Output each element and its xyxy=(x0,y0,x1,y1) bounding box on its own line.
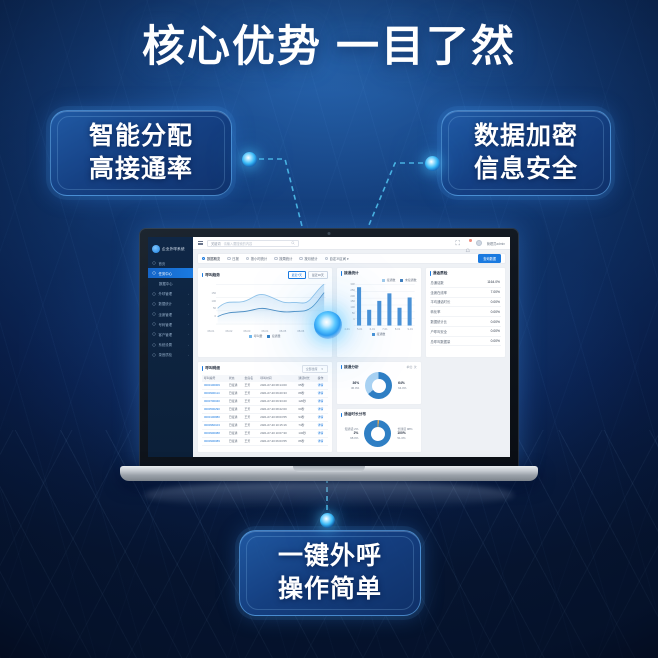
table-row[interactable]: 0000100009已接通王芳2021-07-20 08:14:0065秒详情 xyxy=(202,382,328,390)
card-quality: 通话质检 总通话数1164.0%坐席在线率7.00%平均通话时长0.00%转化率… xyxy=(425,267,507,358)
audio-icon xyxy=(152,353,156,357)
sidebar-item-8[interactable]: 系统设置› xyxy=(148,340,193,350)
table-cell: 已接通 xyxy=(227,382,243,390)
table-cell: 王芳 xyxy=(243,397,259,405)
duration-pct: 98.0% xyxy=(345,436,359,440)
answer-donut-chart xyxy=(365,372,392,399)
table-cell: 王芳 xyxy=(243,437,259,445)
search-label: 关键词 xyxy=(211,241,221,246)
search-input[interactable]: 关键词 请输入要搜索的内容 xyxy=(207,240,299,247)
laptop-mockup: 企业外呼系统 首页任务中心数据中心外呼管理›数据统计›坐席管理›号码管理›客户管… xyxy=(120,228,538,490)
legend-item: 接通量 xyxy=(267,334,280,338)
x-tick: 08-03 xyxy=(243,330,250,333)
table-cell: 王芳 xyxy=(243,421,259,429)
chart-icon xyxy=(152,302,156,306)
table-cell: 65秒 xyxy=(296,382,315,390)
chevron-right-icon: › xyxy=(188,292,189,296)
table-column-header: 呼叫编号 xyxy=(202,375,227,382)
table-cell: 0000500290 xyxy=(202,405,227,413)
laptop-reflection xyxy=(144,482,514,508)
chevron-right-icon: › xyxy=(188,312,189,316)
x-tick: 5-01 xyxy=(357,328,362,331)
sidebar-item-2[interactable]: 数据中心 xyxy=(148,278,193,288)
card-title: 接通统计 xyxy=(344,271,359,276)
bar-legend: 接通数未接通数 xyxy=(341,278,417,282)
sidebar-item-1[interactable]: 任务中心 xyxy=(148,268,193,278)
stat-row: 坐席在线率7.00% xyxy=(430,288,502,298)
chevron-right-icon: › xyxy=(188,322,189,326)
brand-name: 企业外呼系统 xyxy=(162,247,185,252)
table-cell: 0000100009 xyxy=(202,382,227,390)
bar-x-axis: 4-015-016-017-018-019-01 xyxy=(341,328,417,331)
card-connect: 接通统计 接通数未接通数 300250200150100500 4-015-0 xyxy=(336,267,422,358)
card-answer: 接通分析 单位: 次 36% 36.0% xyxy=(336,361,422,406)
table-cell: 已接通 xyxy=(227,389,243,397)
stat-row: 平均通话时长0.00% xyxy=(430,298,502,308)
table-cell: 132秒 xyxy=(296,429,315,437)
stat-label: 户呼叫安全 xyxy=(431,329,447,334)
bar-chart xyxy=(354,283,415,327)
sidebar-item-5[interactable]: 坐席管理› xyxy=(148,309,193,319)
table-cell: 2021-07-20 10:07:30 xyxy=(258,429,296,437)
x-tick: 6-01 xyxy=(370,328,375,331)
phone-icon xyxy=(152,271,156,275)
chevron-right-icon: › xyxy=(188,353,189,357)
stat-value: 0.00% xyxy=(491,339,500,343)
table-row[interactable]: 0000500290已接通王芳2021-07-20 08:22:0060秒详情 xyxy=(202,405,328,413)
sidebar-item-label: 客户管理 xyxy=(159,332,173,337)
table-row[interactable]: 0000100880已接通王芳2021-07-20 08:03:5594秒详情 xyxy=(202,413,328,421)
legend-item: 接通数 xyxy=(382,278,395,282)
x-tick: 9-01 xyxy=(407,328,412,331)
brand-logo-icon xyxy=(152,245,160,253)
search-icon xyxy=(291,241,295,245)
stat-row: 总呼叫数据量0.00% xyxy=(430,337,502,347)
bar xyxy=(367,310,371,326)
stat-value: 1164.0% xyxy=(487,280,500,284)
stat-list: 总通话数1164.0%坐席在线率7.00%平均通话时长0.00%转化率0.00%… xyxy=(430,278,502,346)
table-column-header: 呼叫时间 xyxy=(258,375,296,382)
table-cell: 88秒 xyxy=(296,389,315,397)
dashboard-grid: 呼叫趋势 最近7天 最近30天 150100500 xyxy=(193,264,510,457)
legend-label: 未接通数 xyxy=(405,278,417,282)
sidebar-item-label: 任务中心 xyxy=(159,271,173,276)
stat-value: 0.00% xyxy=(491,329,500,333)
filter-radio-label: 数据概览 xyxy=(207,256,220,261)
sidebar-item-label: 录音质检 xyxy=(159,352,173,357)
card-records: 呼叫明细 全部坐席 ▾ 呼叫编号状态坐席名呼叫时间通话时长操作 00001000… xyxy=(197,361,333,453)
legend-label: 接通量 xyxy=(272,334,281,338)
callout-line-2: 操作简单 xyxy=(278,573,382,606)
x-tick: 4-01 xyxy=(344,328,349,331)
stat-value: 0.00% xyxy=(491,310,500,314)
trend-chart xyxy=(216,281,326,329)
answer-donut-wrap: 36% 36.0% 64% 64.0% xyxy=(341,372,417,401)
y-tick: 100 xyxy=(205,300,216,303)
card-header: 接通分析 单位: 次 xyxy=(341,365,417,370)
fullscreen-icon[interactable] xyxy=(455,240,461,246)
filter-radio-4[interactable]: 按月统计 xyxy=(299,256,317,261)
stat-label: 总呼叫数据量 xyxy=(431,339,451,344)
table-cell: 详情 xyxy=(316,397,328,405)
table-cell: 详情 xyxy=(316,405,328,413)
sidebar-item-6[interactable]: 号码管理› xyxy=(148,319,193,329)
chevron-right-icon: › xyxy=(188,302,189,306)
x-tick: 08-02 xyxy=(226,330,233,333)
table-cell: 已接通 xyxy=(227,397,243,405)
table-row[interactable]: 0000900088已接通王芳2021-07-20 10:07:30132秒详情 xyxy=(202,429,328,437)
x-tick: 08-06 xyxy=(297,330,304,333)
card-title: 呼叫明细 xyxy=(205,366,220,371)
card-header: 通话质检 xyxy=(430,271,502,276)
poster-canvas: 核心优势 一目了然 企业外呼系统 首页任务中心数据中心外呼管理›数据统计›坐席管… xyxy=(0,0,658,658)
stat-row: 转化率0.00% xyxy=(430,307,502,317)
filter-radio-5[interactable]: 自定义区间 ▾ xyxy=(325,256,349,261)
table-column-header: 坐席名 xyxy=(243,375,259,382)
search-placeholder: 请输入要搜索的内容 xyxy=(224,241,253,246)
table-cell: 2021-07-20 06:03:55 xyxy=(258,437,296,445)
card-title: 接通分析 xyxy=(344,365,359,370)
callout-data-encryption[interactable]: 数据加密 信息安全 xyxy=(441,110,611,196)
duration-legend-right: 长通话 98%100%51.0% xyxy=(397,427,412,441)
y-tick: 150 xyxy=(205,292,216,295)
bar xyxy=(377,301,381,326)
table-header-row: 呼叫编号状态坐席名呼叫时间通话时长操作 xyxy=(202,375,328,382)
user-icon xyxy=(152,312,156,316)
card-meta: 单位: 次 xyxy=(407,365,417,369)
table-cell: 详情 xyxy=(316,421,328,429)
bar-legend-bottom: 接通数 xyxy=(341,332,417,336)
menu-toggle-icon[interactable] xyxy=(198,241,203,245)
duration-legend-left: 短通话 2%2%98.0% xyxy=(345,427,359,441)
people-icon xyxy=(152,332,156,336)
card-title: 通话时长分布 xyxy=(344,412,366,417)
table-cell: 已接通 xyxy=(227,429,243,437)
table-cell: 详情 xyxy=(316,389,328,397)
sidebar-item-label: 数据中心 xyxy=(159,281,173,286)
webcam-icon xyxy=(328,232,331,235)
y-tick: 50 xyxy=(205,307,216,310)
table-cell: 0000700040 xyxy=(202,397,227,405)
range-7d-button[interactable]: 最近7天 xyxy=(288,271,306,279)
user-name[interactable]: 管理员admin xyxy=(487,241,505,246)
duration-donut-wrap: 短通话 2%2%98.0% 长通话 98%100%51.0% xyxy=(341,419,417,448)
card-duration: 通话时长分布 短通话 2%2%98.0% 长通话 98%100%51.0% xyxy=(336,408,422,453)
duration-donut-chart xyxy=(364,420,391,447)
stat-label: 坐席在线率 xyxy=(431,290,447,295)
legend-item: 未接通数 xyxy=(400,278,416,282)
filter-radio-1[interactable]: 日报 xyxy=(227,256,239,261)
donut-label-big: 64% 64.0% xyxy=(398,381,406,390)
table-cell: 0000900089 xyxy=(202,437,227,445)
filter-radio-label: 按月统计 xyxy=(304,256,317,261)
chevron-right-icon: › xyxy=(188,343,189,347)
laptop-lid: 企业外呼系统 首页任务中心数据中心外呼管理›数据统计›坐席管理›号码管理›客户管… xyxy=(139,228,519,468)
notification-bell-icon[interactable] xyxy=(465,240,471,246)
table-cell: 已接通 xyxy=(227,421,243,429)
x-tick: 7-01 xyxy=(382,328,387,331)
gear-icon xyxy=(152,292,156,296)
card-header: 接通统计 xyxy=(341,271,417,276)
table-cell: 王芳 xyxy=(243,389,259,397)
topbar-actions: 管理员admin xyxy=(455,240,505,246)
bar xyxy=(387,293,391,325)
radio-circle-icon xyxy=(274,257,277,260)
filter-radio-label: 自定义区间 ▾ xyxy=(330,256,349,261)
glow-node-left xyxy=(242,152,257,167)
card-title: 呼叫趋势 xyxy=(205,273,220,278)
sidebar-item-label: 数据统计 xyxy=(159,301,173,306)
query-button[interactable]: 查询数据 xyxy=(478,254,501,263)
callout-line-1: 数据加密 xyxy=(474,120,578,153)
notification-badge xyxy=(469,239,471,241)
donut-label-small: 36% 36.0% xyxy=(351,381,359,390)
dashboard-main: 关键词 请输入要搜索的内容 xyxy=(193,237,510,457)
table-cell: 0000900114 xyxy=(202,389,227,397)
callout-line-2: 信息安全 xyxy=(474,153,578,186)
table-cell: 2021-07-20 08:03:55 xyxy=(258,413,296,421)
avatar[interactable] xyxy=(476,240,482,246)
legend-item: 呼叫量 xyxy=(249,334,262,338)
donut-big-pct: 64.0% xyxy=(398,386,406,390)
donut-small-pct: 36.0% xyxy=(351,386,359,390)
table-cell: 详情 xyxy=(316,429,328,437)
card-header: 呼叫趋势 最近7天 最近30天 xyxy=(202,271,328,279)
range-30d-button[interactable]: 最近30天 xyxy=(308,271,328,279)
callout-line-2: 高接通率 xyxy=(89,153,193,186)
sidebar-item-9[interactable]: 录音质检› xyxy=(148,350,193,360)
settings-icon xyxy=(152,343,156,347)
x-tick: 08-01 xyxy=(208,330,215,333)
table-cell: 0000900088 xyxy=(202,429,227,437)
card-title: 通话质检 xyxy=(433,271,448,276)
filter-radio-3[interactable]: 按周统计 xyxy=(274,256,292,261)
stat-value: 0.00% xyxy=(491,300,500,304)
legend-item: 接通数 xyxy=(372,332,385,336)
stat-label: 数据统计比 xyxy=(431,319,447,324)
table-row[interactable]: 0000960103已接通王芳2021-07-20 10:15:1674秒详情 xyxy=(202,421,328,429)
radio-circle-icon xyxy=(299,257,302,260)
sidebar-item-label: 号码管理 xyxy=(159,322,173,327)
table-cell: 王芳 xyxy=(243,429,259,437)
table-row[interactable]: 0000700040已接通王芳2021-07-20 09:33:20120秒详情 xyxy=(202,397,328,405)
table-cell: 2021-07-20 09:33:20 xyxy=(258,397,296,405)
card-trend: 呼叫趋势 最近7天 最近30天 150100500 xyxy=(197,267,333,358)
table-cell: 94秒 xyxy=(296,413,315,421)
stat-row: 总通话数1164.0% xyxy=(430,278,502,288)
table-cell: 86秒 xyxy=(296,437,315,445)
trend-x-axis: 08-0108-0208-0308-0408-0508-0608-07 xyxy=(202,330,328,333)
trend-y-axis: 150100500 xyxy=(205,292,216,318)
table-cell: 详情 xyxy=(316,437,328,445)
stat-row: 数据统计比0.00% xyxy=(430,317,502,327)
glow-node-bottom xyxy=(320,513,335,528)
radio-circle-icon xyxy=(325,257,328,260)
duration-pct: 51.0% xyxy=(397,436,412,440)
home-icon xyxy=(152,261,156,265)
table-cell: 2021-07-20 10:15:16 xyxy=(258,421,296,429)
stat-label: 平均通话时长 xyxy=(431,299,451,304)
agent-select[interactable]: 全部坐席 ▾ xyxy=(302,365,328,373)
callout-line-1: 一键外呼 xyxy=(278,540,382,573)
x-tick: 08-05 xyxy=(279,330,286,333)
x-tick: 08-04 xyxy=(261,330,268,333)
table-column-header: 操作 xyxy=(316,375,328,382)
laptop-screen: 企业外呼系统 首页任务中心数据中心外呼管理›数据统计›坐席管理›号码管理›客户管… xyxy=(148,237,510,457)
table-cell: 2021-07-20 08:14:00 xyxy=(258,382,296,390)
table-cell: 详情 xyxy=(316,413,328,421)
legend-label: 接通数 xyxy=(387,278,396,282)
sidebar-item-7[interactable]: 客户管理› xyxy=(148,329,193,339)
filter-bar: 数据概览日报按小时统计按周统计按月统计自定义区间 ▾查询数据 xyxy=(197,253,506,264)
table-cell: 0000960103 xyxy=(202,421,227,429)
radio-circle-icon xyxy=(202,257,205,260)
table-cell: 已接通 xyxy=(227,413,243,421)
filter-radio-label: 按周统计 xyxy=(279,256,292,261)
sidebar-item-4[interactable]: 数据统计› xyxy=(148,299,193,309)
sidebar-item-0[interactable]: 首页 xyxy=(148,258,193,268)
table-cell: 120秒 xyxy=(296,397,315,405)
bar xyxy=(407,297,411,325)
y-tick: 0 xyxy=(205,315,216,318)
stat-value: 0.00% xyxy=(491,320,500,324)
table-row[interactable]: 0000900114已接通王芳2021-07-20 09:20:3388秒详情 xyxy=(202,389,328,397)
trend-legend: 呼叫量接通量 xyxy=(202,334,328,338)
stat-label: 转化率 xyxy=(431,309,441,314)
filter-radio-0[interactable]: 数据概览 xyxy=(202,256,220,261)
legend-label: 呼叫量 xyxy=(254,334,263,338)
chevron-right-icon: › xyxy=(188,332,189,336)
glow-node-center xyxy=(314,311,342,339)
glow-node-right xyxy=(425,156,440,171)
table-cell: 王芳 xyxy=(243,413,259,421)
table-column-header: 状态 xyxy=(227,375,243,382)
chevron-down-icon: ▾ xyxy=(321,367,322,371)
table-cell: 已接通 xyxy=(227,437,243,445)
sidebar-item-label: 坐席管理 xyxy=(159,312,173,317)
sidebar-item-label: 首页 xyxy=(159,261,166,266)
radio-circle-icon xyxy=(246,257,249,260)
bar xyxy=(357,287,361,325)
laptop-base xyxy=(120,466,538,481)
table-cell: 已接通 xyxy=(227,405,243,413)
card-header: 通话时长分布 xyxy=(341,412,417,417)
card-header: 呼叫明细 全部坐席 ▾ xyxy=(202,365,328,373)
filter-radio-label: 日报 xyxy=(232,256,239,261)
legend-label: 接通数 xyxy=(377,332,386,336)
table-row[interactable]: 0000900089已接通王芳2021-07-20 06:03:5586秒详情 xyxy=(202,437,328,445)
brand: 企业外呼系统 xyxy=(148,242,193,258)
sidebar-item-label: 外呼管理 xyxy=(159,291,173,296)
table-cell: 王芳 xyxy=(243,382,259,390)
radio-circle-icon xyxy=(227,257,230,260)
filter-radio-label: 按小时统计 xyxy=(251,256,267,261)
sidebar-item-label: 系统设置 xyxy=(159,342,173,347)
table-cell: 74秒 xyxy=(296,421,315,429)
table-cell: 详情 xyxy=(316,382,328,390)
records-table: 呼叫编号状态坐席名呼叫时间通话时长操作 0000100009已接通王芳2021-… xyxy=(202,375,328,446)
table-cell: 王芳 xyxy=(243,405,259,413)
bar xyxy=(397,308,401,326)
callout-smart-dispatch[interactable]: 智能分配 高接通率 xyxy=(50,110,232,196)
table-cell: 2021-07-20 09:20:33 xyxy=(258,389,296,397)
stat-value: 7.00% xyxy=(491,290,500,294)
table-column-header: 通话时长 xyxy=(296,375,315,382)
filter-radio-2[interactable]: 按小时统计 xyxy=(246,256,267,261)
callout-one-click-call[interactable]: 一键外呼 操作简单 xyxy=(239,530,421,616)
globe-icon xyxy=(152,322,156,326)
sidebar-item-3[interactable]: 外呼管理› xyxy=(148,289,193,299)
donut-column: 接通分析 单位: 次 36% 36.0% xyxy=(336,361,422,453)
stat-label: 总通话数 xyxy=(431,280,444,285)
table-cell: 2021-07-20 08:22:00 xyxy=(258,405,296,413)
x-tick: 8-01 xyxy=(395,328,400,331)
stat-row: 户呼叫安全0.00% xyxy=(430,327,502,337)
table-cell: 60秒 xyxy=(296,405,315,413)
agent-select-value: 全部坐席 xyxy=(306,367,318,371)
callout-line-1: 智能分配 xyxy=(89,120,193,153)
dashboard-sidebar: 企业外呼系统 首页任务中心数据中心外呼管理›数据统计›坐席管理›号码管理›客户管… xyxy=(148,237,193,457)
table-cell: 0000100880 xyxy=(202,413,227,421)
dashboard-topbar: 关键词 请输入要搜索的内容 xyxy=(193,237,510,250)
